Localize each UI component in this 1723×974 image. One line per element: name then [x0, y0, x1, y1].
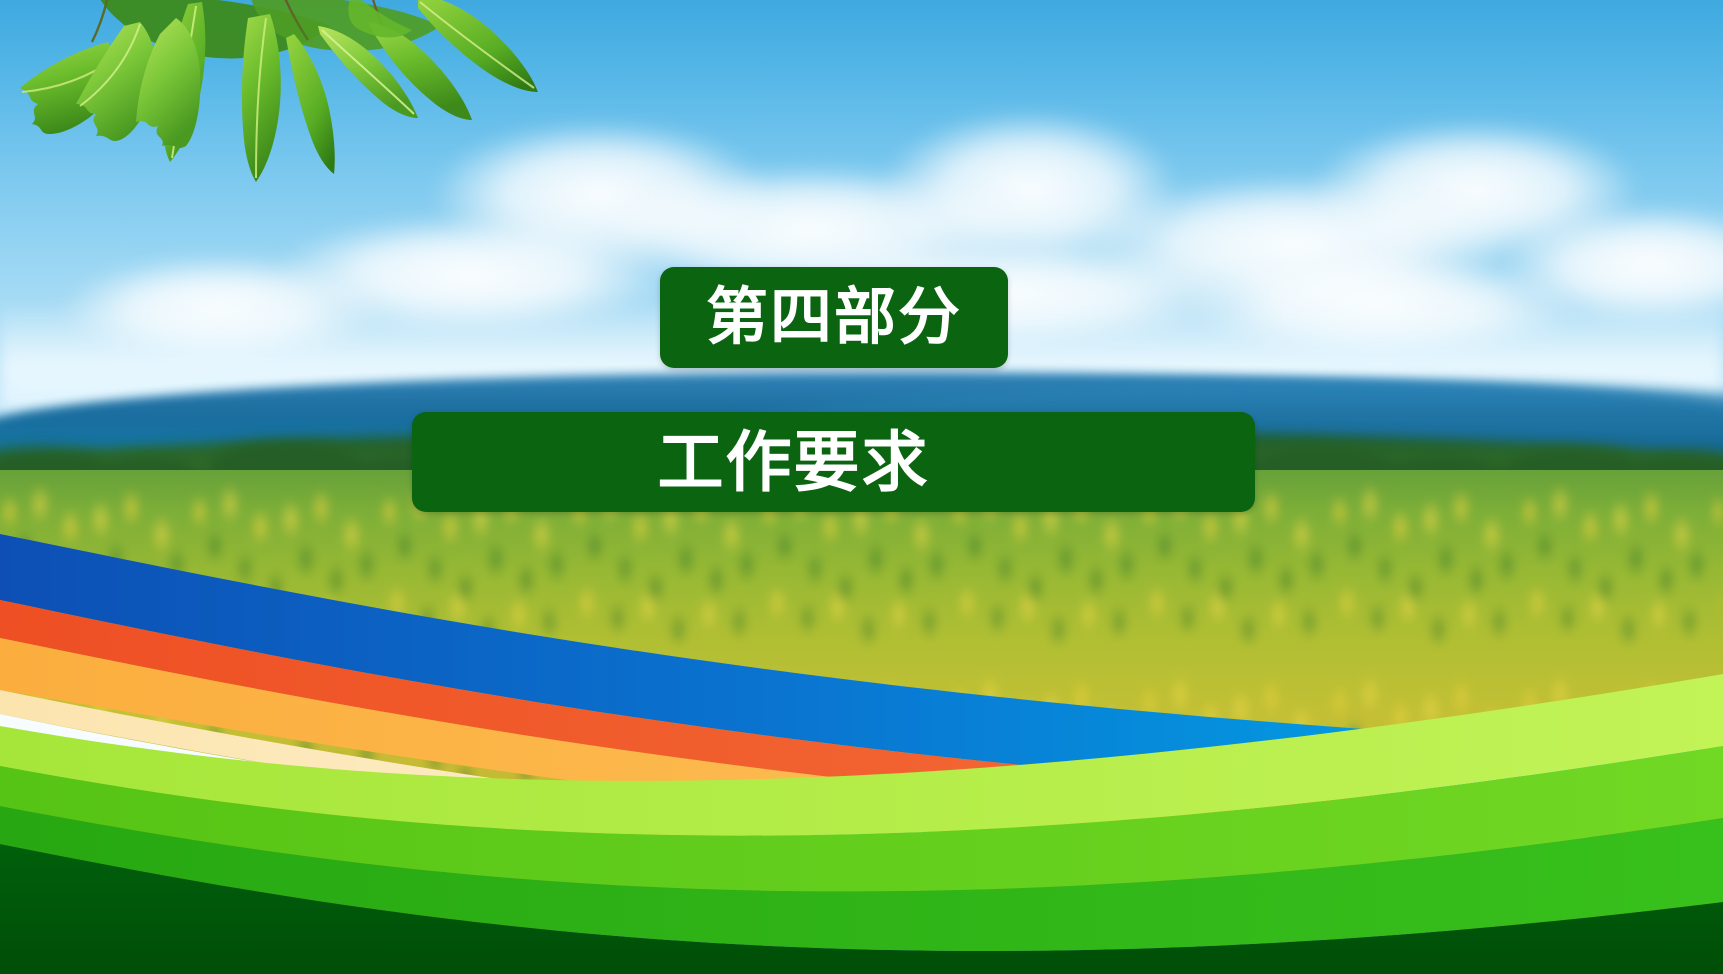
leaf-decoration: [0, 0, 540, 210]
section-title-banner: 工作要求: [412, 412, 1255, 512]
section-title-text: 工作要求: [658, 429, 930, 495]
leaf-shape: [242, 14, 281, 182]
section-number-text: 第四部分: [706, 287, 962, 349]
section-number-banner: 第四部分: [660, 267, 1008, 368]
slide-canvas: 第四部分 工作要求: [0, 0, 1723, 974]
leaf-shape: [286, 34, 335, 174]
leaf-stem: [92, 0, 108, 42]
ribbon-decoration: [0, 514, 1723, 974]
